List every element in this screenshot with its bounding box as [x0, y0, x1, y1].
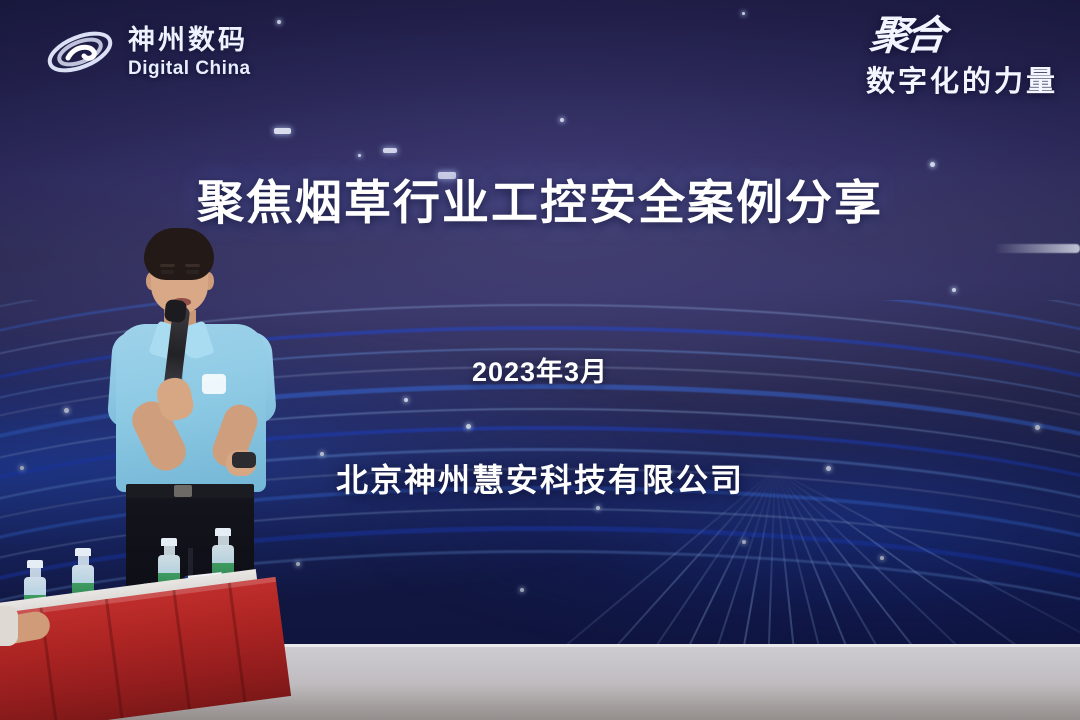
bottle-neck — [30, 568, 41, 577]
light-particle — [277, 20, 281, 24]
slide-title: 聚焦烟草行业工控安全案例分享 — [0, 178, 1080, 229]
presenter-eye-left — [161, 270, 174, 274]
light-particle — [64, 408, 69, 413]
light-particle — [404, 398, 408, 402]
light-particle — [1035, 425, 1040, 430]
bottle-cap — [161, 538, 177, 546]
presentation-clicker — [232, 452, 256, 468]
bottle-cap — [75, 548, 91, 556]
event-calligraphy: 聚合 — [868, 18, 944, 54]
digital-china-logo: 神州数码 Digital China — [44, 20, 251, 84]
light-particle — [930, 162, 935, 167]
edge-light-streak — [994, 244, 1080, 253]
light-particle — [596, 506, 600, 510]
swirl-galaxy-icon — [44, 20, 116, 84]
seated-attendee — [0, 606, 62, 668]
presenter-shirt-logo — [202, 374, 226, 394]
light-particle — [383, 148, 397, 153]
presenter-hair — [144, 228, 214, 280]
bottle-neck — [78, 556, 89, 565]
bottle-cap — [215, 528, 231, 536]
light-particle — [742, 12, 745, 15]
bottle-cap — [27, 560, 43, 568]
bottle-neck — [218, 536, 229, 545]
skirt-fold — [172, 590, 191, 709]
skirt-fold — [105, 599, 124, 718]
event-logo: 聚合 数字化的力量 — [866, 18, 1058, 100]
light-particle — [466, 424, 471, 429]
light-particle — [560, 118, 564, 122]
brand-name-en: Digital China — [128, 59, 251, 78]
light-particle — [274, 128, 291, 134]
presenter-eyebrow-left — [160, 264, 175, 267]
attendee-sleeve — [0, 606, 18, 646]
brand-name-cn: 神州数码 — [128, 27, 251, 54]
light-particle — [952, 288, 956, 292]
digital-china-wordmark: 神州数码 Digital China — [128, 27, 251, 78]
light-particle — [358, 154, 361, 157]
microphone-head — [164, 299, 188, 323]
skirt-fold — [228, 583, 247, 702]
light-particle — [880, 556, 884, 560]
presenter-eye-right — [186, 270, 199, 274]
presenter-eyebrow-right — [185, 264, 200, 267]
light-particle — [520, 588, 524, 592]
conference-stage-photo: 聚焦烟草行业工控安全案例分享 2023年3月 北京神州慧安科技有限公司 神州数码… — [0, 0, 1080, 720]
bottle-neck — [164, 546, 175, 555]
light-particle — [742, 540, 746, 544]
event-tagline: 数字化的力量 — [866, 58, 1058, 100]
light-particle — [296, 562, 300, 566]
presenter-belt-buckle — [174, 485, 192, 497]
